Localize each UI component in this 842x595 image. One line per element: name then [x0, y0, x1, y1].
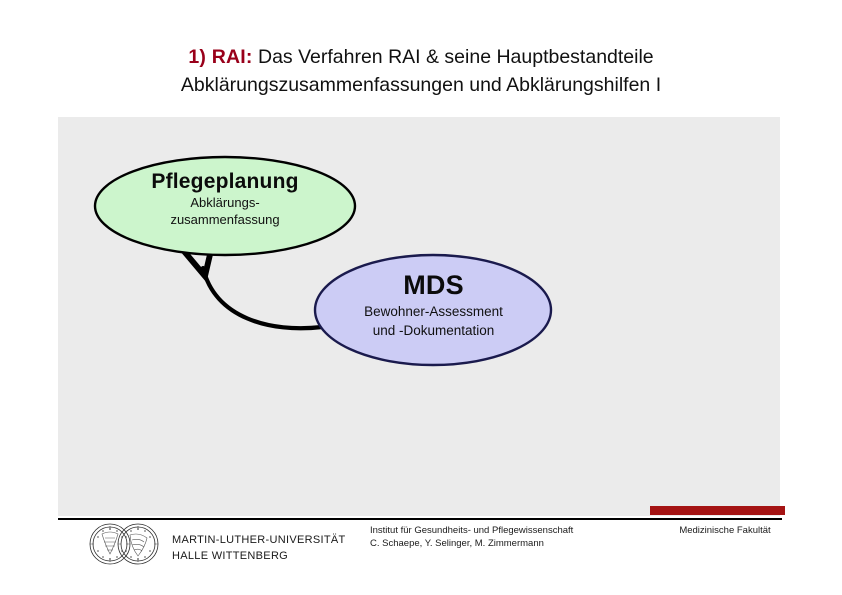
slide-subtitle: Abklärungszusammenfassungen und Abklärun… — [0, 72, 842, 98]
slide-title-line-1: 1) RAI: Das Verfahren RAI & seine Hauptb… — [0, 44, 842, 70]
institute-credit: Institut für Gesundheits- und Pflegewiss… — [370, 524, 630, 550]
slide-title-prefix: 1) RAI: — [188, 46, 252, 68]
university-name: MARTIN-LUTHER-UNIVERSITÄT HALLE WITTENBE… — [172, 532, 372, 564]
university-name-line2: HALLE WITTENBERG — [172, 548, 372, 564]
faculty-label: Medizinische Fakultät — [640, 524, 810, 537]
slide-title-block: 1) RAI: Das Verfahren RAI & seine Hauptb… — [0, 44, 842, 98]
university-seal-logo — [86, 521, 164, 567]
footer-accent-bar — [650, 506, 785, 515]
university-name-line1: MARTIN-LUTHER-UNIVERSITÄT — [172, 532, 372, 548]
slide-content-panel — [58, 117, 780, 516]
slide-title-rest: Das Verfahren RAI & seine Hauptbestandte… — [253, 46, 654, 68]
author-list: C. Schaepe, Y. Selinger, M. Zimmermann — [370, 537, 630, 550]
footer-divider — [58, 518, 782, 520]
institute-name: Institut für Gesundheits- und Pflegewiss… — [370, 524, 630, 537]
